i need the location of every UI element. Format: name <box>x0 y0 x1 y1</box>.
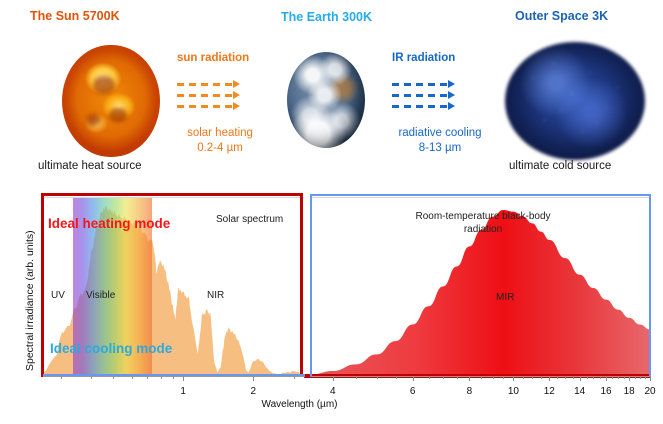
axis-tick <box>532 376 533 379</box>
x-axis-tick-label: 2 <box>251 386 257 397</box>
ir-radiation-label: IR radiation <box>392 52 488 64</box>
axis-tick <box>629 376 630 381</box>
axis-tick <box>650 376 651 381</box>
axis-tick <box>618 376 619 379</box>
radiative-cooling-label: radiative cooling <box>392 126 488 141</box>
axis-tick <box>356 376 357 379</box>
axis-tick <box>624 376 625 379</box>
axis-tick <box>587 376 588 379</box>
axis-tick <box>640 376 641 379</box>
axis-tick <box>600 376 601 379</box>
dashed-arrow-icon <box>392 105 488 108</box>
x-axis-tick-label: 8 <box>467 386 473 397</box>
axis-tick <box>183 376 184 381</box>
dashed-arrow-icon <box>392 83 488 86</box>
sun-panel-caption: ultimate heat source <box>38 160 142 172</box>
axis-tick <box>253 376 254 381</box>
x-axis-tick-label: 6 <box>410 386 416 397</box>
x-axis-tick-label: 1 <box>180 386 186 397</box>
axis-tick <box>523 376 524 379</box>
axis-tick <box>147 376 148 379</box>
axis-tick <box>61 376 62 379</box>
solar-heating-label: solar heating <box>177 126 263 141</box>
axis-tick <box>573 376 574 379</box>
ir-radiation-arrows <box>392 83 488 108</box>
axis-tick <box>493 376 494 379</box>
x-axis-tick-label: 4 <box>330 386 336 397</box>
radiative-cooling-range: 8-13 µm <box>392 141 488 156</box>
axis-tick <box>457 376 458 379</box>
dashed-arrow-icon <box>177 105 273 108</box>
ir-radiation-flow: IR radiation radiative cooling 8-13 µm <box>392 52 488 156</box>
outer-space-panel-caption: ultimate cold source <box>509 160 611 172</box>
earth-icon <box>287 52 365 148</box>
x-axis-title: Wavelength (µm) <box>0 399 663 410</box>
earth-panel-title: The Earth 300K <box>281 10 372 24</box>
axis-tick <box>635 376 636 379</box>
axis-tick <box>161 376 162 379</box>
axis-tick <box>565 376 566 379</box>
sun-radiation-flow: sun radiation solar heating 0.2-4 µm <box>177 52 273 156</box>
axis-tick <box>645 376 646 379</box>
axis-tick <box>503 376 504 379</box>
sun-panel-title: The Sun 5700K <box>30 9 120 23</box>
ideal-cooling-frame <box>310 194 651 377</box>
axis-tick <box>606 376 607 381</box>
dashed-arrow-icon <box>392 94 488 97</box>
sun-radiation-label: sun radiation <box>177 52 273 64</box>
axis-tick <box>513 376 514 381</box>
x-axis-tick-label: 12 <box>544 386 555 397</box>
axis-tick <box>541 376 542 379</box>
x-axis-tick-label: 20 <box>644 386 655 397</box>
axis-tick <box>333 376 334 381</box>
axis-tick <box>481 376 482 379</box>
axis-tick <box>429 376 430 379</box>
ideal-cooling-mode-label: Ideal cooling mode <box>50 341 172 356</box>
x-axis-tick-label: 16 <box>600 386 611 397</box>
axis-tick <box>173 376 174 379</box>
axis-tick <box>580 376 581 381</box>
axis-tick <box>113 376 114 379</box>
y-axis-label: Spectral irradiance (arb. units) <box>10 199 26 374</box>
sun-radiation-arrows <box>177 83 273 108</box>
axis-tick <box>612 376 613 379</box>
dashed-arrow-icon <box>177 83 273 86</box>
outer-space-icon <box>505 42 645 160</box>
dashed-arrow-icon <box>177 94 273 97</box>
sun-icon <box>62 45 160 157</box>
axis-tick <box>413 376 414 381</box>
axis-tick <box>396 376 397 379</box>
axis-tick <box>91 376 92 379</box>
axis-tick <box>549 376 550 381</box>
axis-tick <box>132 376 133 379</box>
axis-tick <box>377 376 378 379</box>
axis-tick <box>294 376 295 379</box>
axis-tick <box>557 376 558 379</box>
solar-heating-range: 0.2-4 µm <box>177 141 263 156</box>
ideal-heating-mode-label: Ideal heating mode <box>48 216 170 231</box>
axis-tick <box>443 376 444 379</box>
x-axis-tick-label: 14 <box>574 386 585 397</box>
outer-space-panel-title: Outer Space 3K <box>515 9 608 23</box>
axis-tick <box>469 376 470 381</box>
axis-tick <box>593 376 594 379</box>
x-axis-tick-label: 18 <box>624 386 635 397</box>
x-axis-tick-label: 10 <box>508 386 519 397</box>
